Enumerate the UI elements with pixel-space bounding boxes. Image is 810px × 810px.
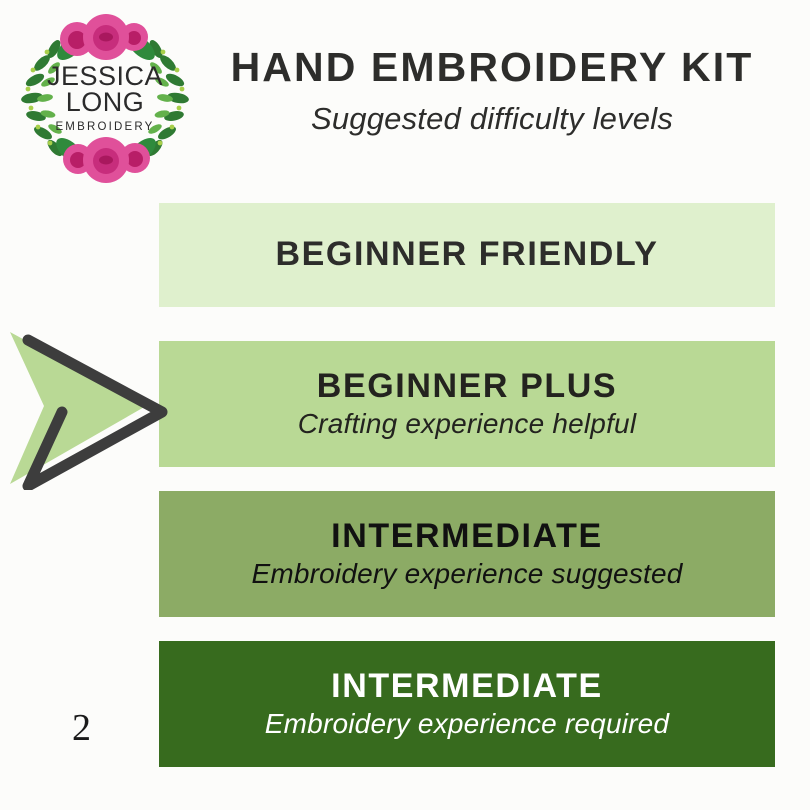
logo-flowers-top	[60, 14, 148, 60]
current-level-arrow: 2	[4, 328, 176, 490]
difficulty-level-row[interactable]: INTERMEDIATE Embroidery experience requi…	[159, 641, 775, 767]
level-title: BEGINNER PLUS	[317, 368, 617, 405]
difficulty-level-row[interactable]: INTERMEDIATE Embroidery experience sugge…	[159, 491, 775, 617]
brand-logo: JESSICA LONG EMBROIDERY	[14, 12, 196, 184]
level-title: BEGINNER FRIENDLY	[276, 236, 659, 273]
level-subtitle: Crafting experience helpful	[298, 408, 637, 440]
level-title: INTERMEDIATE	[331, 518, 603, 555]
level-subtitle: Embroidery experience suggested	[251, 558, 682, 590]
step-number-label: 2	[72, 709, 91, 747]
page-subtitle: Suggested difficulty levels	[196, 101, 788, 137]
level-subtitle: Embroidery experience required	[265, 708, 669, 740]
page-title: HAND EMBROIDERY KIT	[196, 46, 788, 89]
level-title: INTERMEDIATE	[331, 668, 603, 705]
logo-flowers-bottom	[63, 137, 150, 183]
difficulty-level-row[interactable]: BEGINNER PLUS Crafting experience helpfu…	[159, 341, 775, 467]
header: HAND EMBROIDERY KIT Suggested difficulty…	[196, 46, 788, 137]
difficulty-level-row[interactable]: BEGINNER FRIENDLY	[159, 203, 775, 307]
